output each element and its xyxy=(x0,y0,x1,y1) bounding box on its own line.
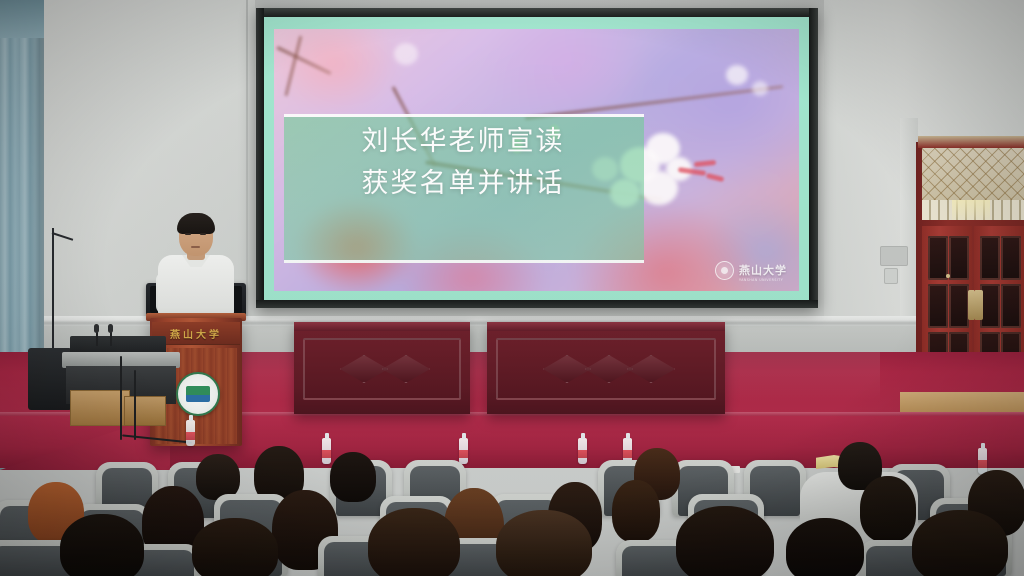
console-mic-head-icon xyxy=(94,324,99,333)
screen-bezel-top xyxy=(256,8,818,17)
door-knob-icon[interactable] xyxy=(946,274,950,278)
slide-logo-english-name: YANSHAN UNIVERSITY xyxy=(739,278,787,282)
table-panel-inset xyxy=(496,338,716,400)
audience-head xyxy=(330,452,376,502)
door-panel xyxy=(928,236,948,280)
audience-head xyxy=(912,510,1008,576)
slide-logo-chinese-name: 燕山大学 xyxy=(739,264,787,277)
screen-bezel-right xyxy=(809,8,818,308)
blossom-icon xyxy=(752,81,768,96)
diamond-icon xyxy=(585,355,633,383)
audience-head xyxy=(60,514,144,576)
diamond-icon xyxy=(543,355,591,383)
diamond-icon xyxy=(382,355,430,383)
door-lock-icon[interactable] xyxy=(974,290,983,320)
cable xyxy=(134,370,136,440)
university-emblem-icon xyxy=(176,372,220,416)
bottle-label xyxy=(186,432,195,440)
slide-title-line-1: 刘长华老师宣读 xyxy=(298,121,628,163)
projection-screen: 刘长华老师宣读 获奖名单并讲话 燕山大学 YANSHAN UNIVERSITY xyxy=(256,8,818,308)
university-seal-icon xyxy=(715,261,734,280)
presenter-eye xyxy=(200,233,206,235)
audience-head xyxy=(676,506,774,576)
audience-head xyxy=(368,508,460,576)
door-panel xyxy=(928,284,948,328)
wall-vent-icon xyxy=(880,246,908,266)
door-panel xyxy=(949,284,969,328)
water-bottle xyxy=(186,420,195,446)
door-head-trim xyxy=(918,136,1024,148)
door-panel xyxy=(1001,236,1021,280)
audience-head xyxy=(860,476,916,542)
diamond-icon xyxy=(627,355,675,383)
transom-light-glow xyxy=(952,200,990,220)
slide-university-logo: 燕山大学 YANSHAN UNIVERSITY xyxy=(715,259,787,282)
screen-bezel-bottom xyxy=(256,300,818,308)
slide-title: 刘长华老师宣读 获奖名单并讲话 xyxy=(298,121,628,205)
table-top-edge xyxy=(487,322,725,331)
lattice-transom-window xyxy=(922,148,1024,200)
conference-table-right xyxy=(487,322,725,414)
presenter-mouth xyxy=(191,246,200,248)
auditorium-photo: 刘长华老师宣读 获奖名单并讲话 燕山大学 YANSHAN UNIVERSITY xyxy=(0,0,1024,576)
cable xyxy=(120,356,122,440)
curtain-header xyxy=(0,0,44,38)
audience-head xyxy=(496,510,592,576)
blossom-icon xyxy=(394,43,418,65)
door-panel xyxy=(980,284,1000,328)
lectern-nameplate-text: 燕山大学 xyxy=(170,326,222,341)
blossom-icon xyxy=(726,65,748,85)
presenter-hair xyxy=(177,213,215,234)
door-panel xyxy=(949,236,969,280)
slide-title-line-2: 获奖名单并讲话 xyxy=(298,163,628,205)
presenter-eye xyxy=(185,233,191,235)
diamond-icon xyxy=(340,355,388,383)
audience-head xyxy=(786,518,864,576)
table-diamond-motif xyxy=(498,355,714,383)
door-panel xyxy=(1001,284,1021,328)
table-panel-inset xyxy=(303,338,461,400)
audience-head xyxy=(612,480,660,542)
slide-rule-bottom xyxy=(284,260,644,263)
seated-audience xyxy=(0,448,1024,576)
audience-head xyxy=(192,518,278,576)
table-top-edge xyxy=(294,322,470,331)
door-panel xyxy=(980,236,1000,280)
console-mic-head-icon xyxy=(108,324,113,333)
presentation-slide: 刘长华老师宣读 获奖名单并讲话 燕山大学 YANSHAN UNIVERSITY xyxy=(264,17,809,300)
conference-table-left xyxy=(294,322,470,414)
screen-bezel-left xyxy=(256,8,264,308)
cardboard-box xyxy=(124,396,166,426)
wall-socket-icon xyxy=(884,268,898,284)
table-diamond-motif xyxy=(305,355,459,383)
